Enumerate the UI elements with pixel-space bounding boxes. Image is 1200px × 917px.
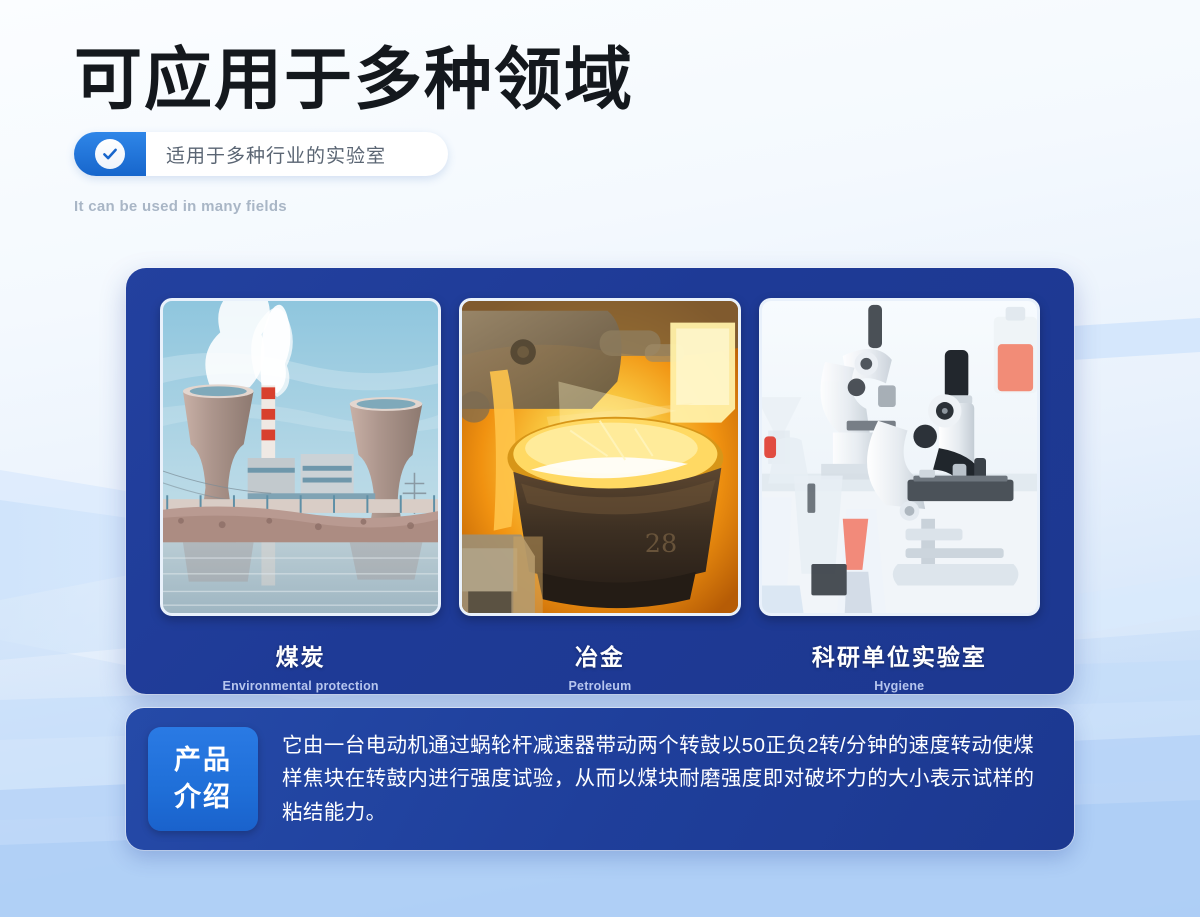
page-subtitle: It can be used in many fields xyxy=(74,198,634,215)
cooling-towers-image xyxy=(163,301,438,613)
page-header: 可应用于多种领域 适用于多种行业的实验室 It can be used in m… xyxy=(74,44,634,215)
product-description-text: 它由一台电动机通过蜗轮杆减速器带动两个转鼓以50正负2转/分钟的速度转动使煤样焦… xyxy=(258,729,1052,829)
industries-panel: 煤炭 Environmental protection xyxy=(126,268,1074,694)
thumbnail-laboratory xyxy=(759,298,1040,616)
product-description-panel: 产品 介绍 它由一台电动机通过蜗轮杆减速器带动两个转鼓以50正负2转/分钟的速度… xyxy=(126,708,1074,850)
product-intro-badge-line2: 介绍 xyxy=(174,779,232,816)
industry-card-coal[interactable]: 煤炭 Environmental protection xyxy=(160,298,441,693)
card-title-en: Petroleum xyxy=(459,679,740,693)
thumbnail-cooling-towers xyxy=(160,298,441,616)
card-title-cn: 煤炭 xyxy=(160,638,441,672)
card-title-cn: 冶金 xyxy=(459,638,740,672)
badge-icon-container xyxy=(74,132,146,176)
card-title-cn: 科研单位实验室 xyxy=(759,638,1040,672)
product-intro-badge: 产品 介绍 xyxy=(148,727,258,831)
svg-text:28: 28 xyxy=(645,529,677,559)
page-title: 可应用于多种领域 xyxy=(74,44,634,116)
thumbnail-molten-metal: 28 xyxy=(459,298,740,616)
industry-card-metallurgy[interactable]: 28 冶金 Petroleum xyxy=(459,298,740,693)
check-circle-icon xyxy=(95,139,125,169)
laboratory-microscopes-image xyxy=(762,301,1037,613)
check-mark-icon xyxy=(101,145,119,163)
industry-card-laboratory[interactable]: 科研单位实验室 Hygiene xyxy=(759,298,1040,693)
product-intro-badge-line1: 产品 xyxy=(174,742,232,779)
card-title-en: Hygiene xyxy=(759,679,1040,693)
card-title-en: Environmental protection xyxy=(160,679,441,693)
industry-card-list: 煤炭 Environmental protection xyxy=(126,268,1074,693)
feature-badge-label: 适用于多种行业的实验室 xyxy=(146,132,448,176)
feature-badge: 适用于多种行业的实验室 xyxy=(74,132,448,176)
molten-metal-image: 28 xyxy=(462,301,737,613)
